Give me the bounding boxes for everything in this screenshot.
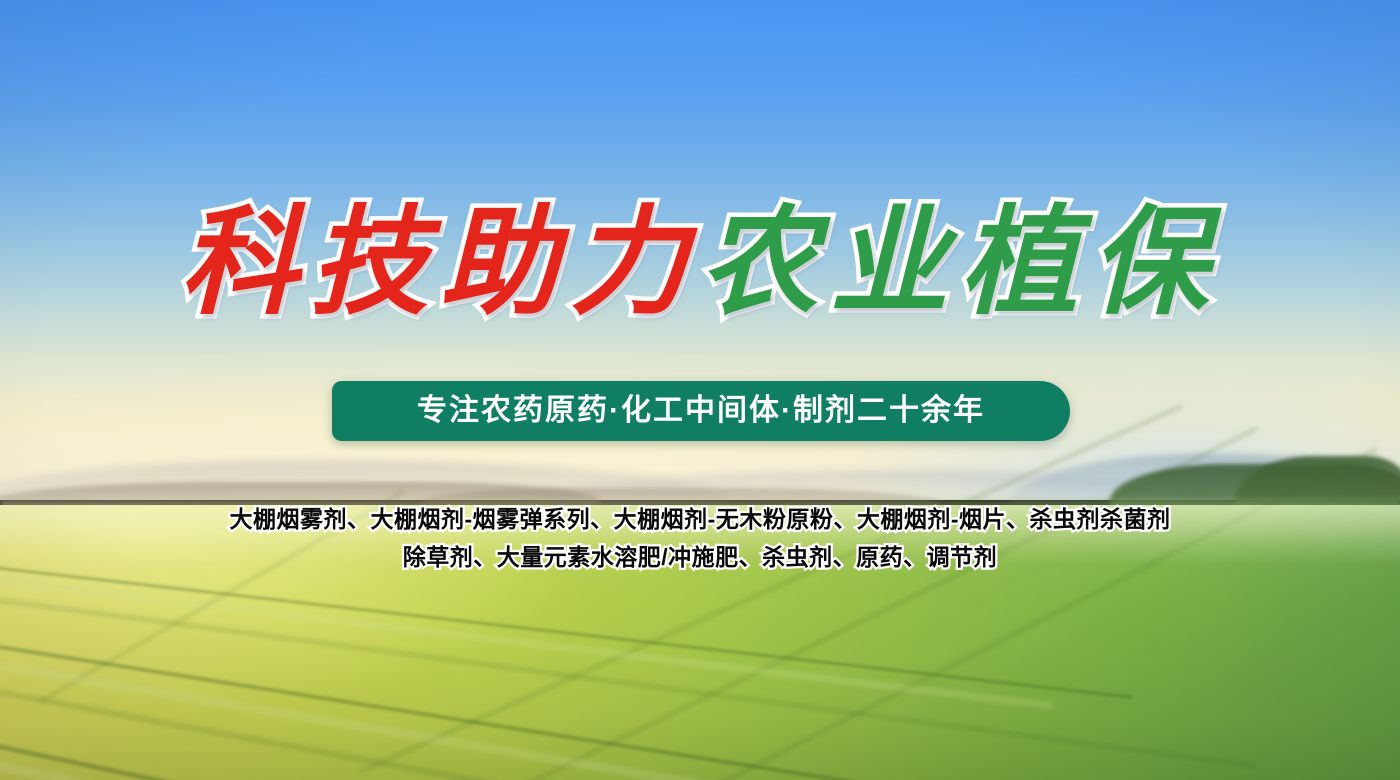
- subtitle-text: 专注农药原药·化工中间体·制剂二十余年: [417, 396, 985, 426]
- product-line: 大棚烟雾剂、大棚烟剂-烟雾弹系列、大棚烟剂-无木粉原粉、大棚烟剂-烟片、杀虫剂杀…: [0, 500, 1400, 538]
- headline: 科技助力农业植保: [0, 203, 1400, 321]
- promo-banner: 科技助力农业植保 专注农药原药·化工中间体·制剂二十余年 大棚烟雾剂、大棚烟剂-…: [0, 0, 1400, 780]
- subtitle-banner: 专注农药原药·化工中间体·制剂二十余年: [332, 381, 1070, 441]
- headline-segment-green: 农业植保: [700, 203, 1220, 321]
- product-line: 除草剂、大量元素水溶肥/冲施肥、杀虫剂、原药、调节剂: [0, 538, 1400, 576]
- headline-segment-red: 科技助力: [180, 203, 700, 321]
- headline-text: 科技助力农业植保: [180, 203, 1220, 321]
- product-list: 大棚烟雾剂、大棚烟剂-烟雾弹系列、大棚烟剂-无木粉原粉、大棚烟剂-烟片、杀虫剂杀…: [0, 500, 1400, 576]
